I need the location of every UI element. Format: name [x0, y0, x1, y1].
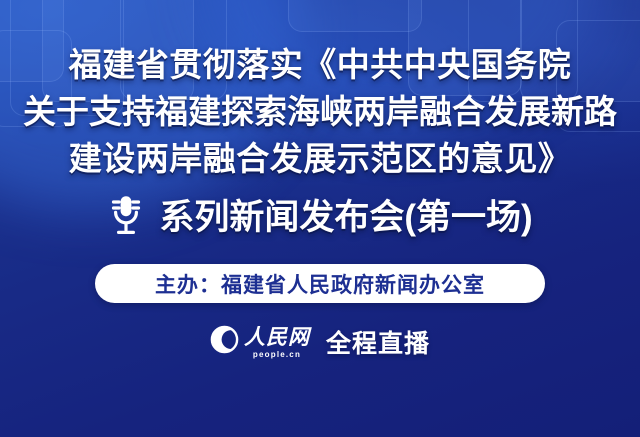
people-cn-wordmark: 人民网 people.cn [244, 327, 310, 359]
microphone-icon [107, 193, 145, 242]
footer-row: 人民网 people.cn 全程直播 [210, 324, 430, 360]
press-conference-poster: 福建省贯彻落实《中共中央国务院 关于支持福建探索海峡两岸融合发展新路 建设两岸融… [0, 0, 640, 437]
people-cn-chinese-name: 人民网 [244, 327, 310, 348]
headline-line-3: 建设两岸融合发展示范区的意见》 [69, 142, 572, 175]
series-row: 系列新闻发布会(第一场) [107, 193, 532, 242]
headline-line-1: 福建省贯彻落实《中共中央国务院 [69, 48, 572, 81]
host-badge-label: 主办：福建省人民政府新闻办公室 [155, 269, 485, 299]
host-badge: 主办：福建省人民政府新闻办公室 [95, 264, 545, 303]
series-title: 系列新闻发布会(第一场) [159, 200, 532, 235]
people-cn-logo: 人民网 people.cn [210, 325, 310, 359]
people-cn-latin-name: people.cn [253, 351, 301, 359]
poster-content: 福建省贯彻落实《中共中央国务院 关于支持福建探索海峡两岸融合发展新路 建设两岸融… [0, 0, 640, 437]
people-cn-globe-icon [210, 325, 239, 359]
headline-line-2: 关于支持福建探索海峡两岸融合发展新路 [23, 95, 617, 128]
live-broadcast-label: 全程直播 [326, 324, 430, 360]
